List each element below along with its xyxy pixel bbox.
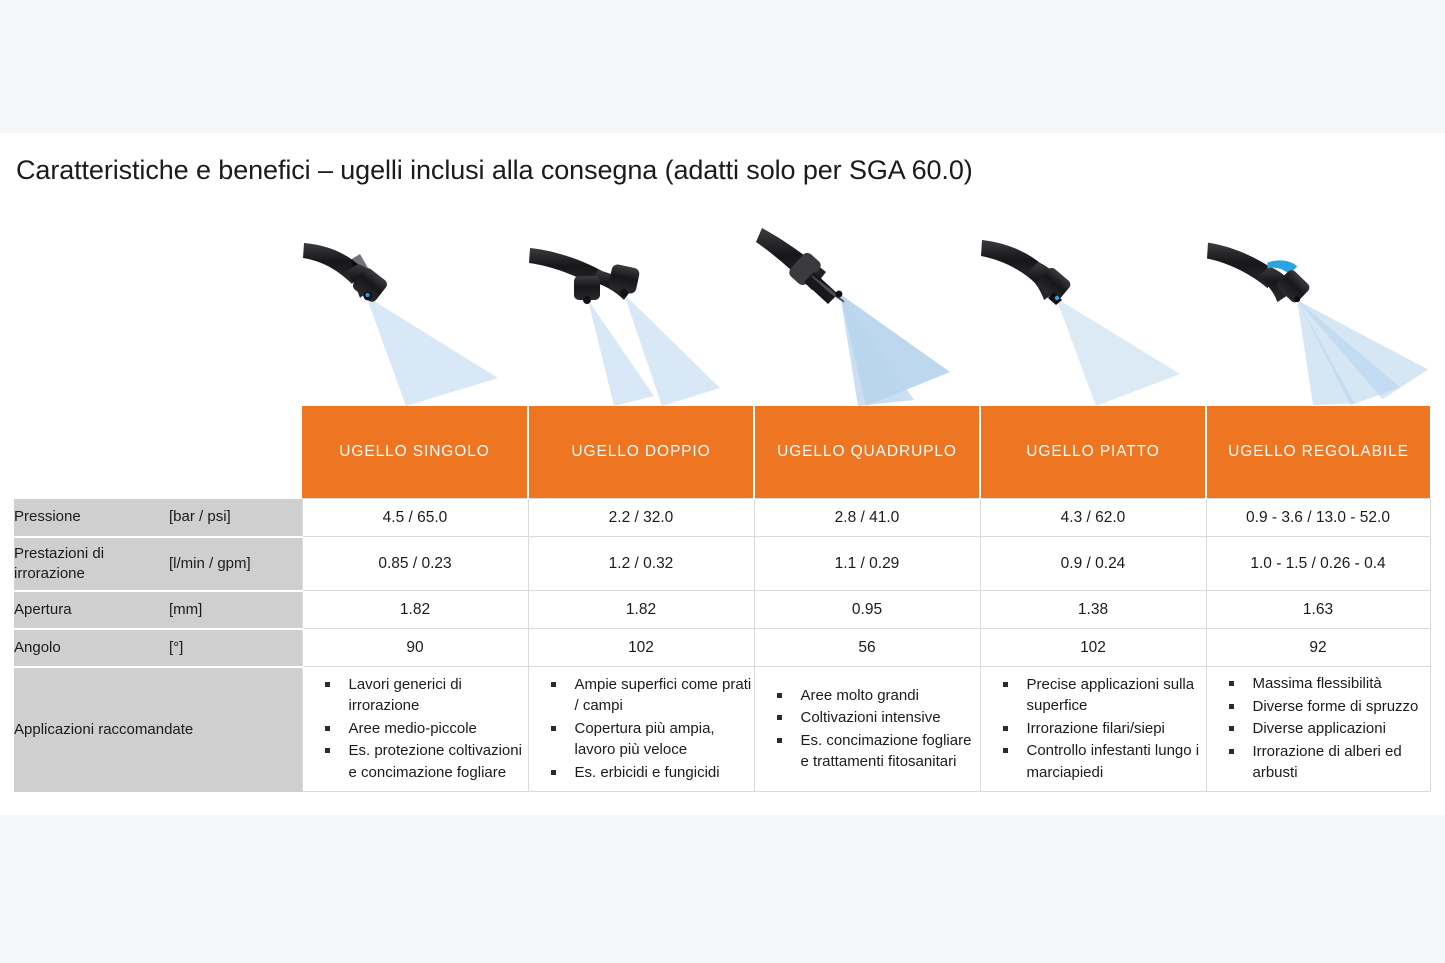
table-cell: 1.2 / 0.32	[528, 537, 754, 591]
table-cell: 102	[980, 629, 1206, 667]
nozzle-illustration-strip	[302, 228, 1430, 406]
list-item: Massima flessibilità	[1229, 673, 1430, 694]
list-item: Coltivazioni intensive	[777, 707, 980, 728]
table-cell: 1.82	[302, 591, 528, 629]
table-cell: 0.9 / 0.24	[980, 537, 1206, 591]
table-cell: 1.0 - 1.5 / 0.26 - 0.4	[1206, 537, 1430, 591]
list-item: Aree molto grandi	[777, 685, 980, 706]
list-item: Irrorazione filari/siepi	[1003, 718, 1206, 739]
applications-cell: Massima flessibilitàDiverse forme di spr…	[1206, 667, 1430, 792]
table-cell: 2.8 / 41.0	[754, 499, 980, 537]
row-unit: [bar / psi]	[169, 499, 302, 537]
list-item: Es. erbicidi e fungicidi	[551, 762, 754, 783]
list-item: Irrorazione di alberi ed arbusti	[1229, 741, 1430, 784]
column-header-flat: UGELLO PIATTO	[980, 406, 1206, 499]
applications-list: Massima flessibilitàDiverse forme di spr…	[1207, 673, 1430, 783]
row-label: Angolo	[14, 629, 169, 667]
applications-row-label: Applicazioni raccomandate	[14, 667, 302, 792]
table-cell: 1.1 / 0.29	[754, 537, 980, 591]
column-header-double: UGELLO DOPPIO	[528, 406, 754, 499]
list-item: Ampie superfici come prati / campi	[551, 674, 754, 717]
list-item: Aree medio-piccole	[325, 718, 528, 739]
quadruple-nozzle-illustration	[754, 228, 980, 406]
applications-list: Lavori generici di irrorazioneAree medio…	[303, 674, 528, 783]
row-label: Apertura	[14, 591, 169, 629]
adjustable-nozzle-illustration	[1206, 228, 1430, 406]
flat-nozzle-illustration	[980, 228, 1206, 406]
table-row: Angolo[°]901025610292	[14, 629, 1430, 667]
table-cell: 0.95	[754, 591, 980, 629]
list-item: Lavori generici di irrorazione	[325, 674, 528, 717]
table-cell: 2.2 / 32.0	[528, 499, 754, 537]
list-item: Diverse forme di spruzzo	[1229, 696, 1430, 717]
applications-cell: Lavori generici di irrorazioneAree medio…	[302, 667, 528, 792]
list-item: Es. protezione coltivazioni e concimazio…	[325, 740, 528, 783]
table-cell: 90	[302, 629, 528, 667]
table-header-row: UGELLO SINGOLO UGELLO DOPPIO UGELLO QUAD…	[14, 406, 1430, 499]
table-cell: 1.38	[980, 591, 1206, 629]
table-row: Pressione[bar / psi]4.5 / 65.02.2 / 32.0…	[14, 499, 1430, 537]
column-header-adjustable: UGELLO REGOLABILE	[1206, 406, 1430, 499]
column-header-single: UGELLO SINGOLO	[302, 406, 528, 499]
applications-cell: Ampie superfici come prati / campiCopert…	[528, 667, 754, 792]
row-unit: [mm]	[169, 591, 302, 629]
table-cell: 0.85 / 0.23	[302, 537, 528, 591]
single-nozzle-illustration	[302, 228, 528, 406]
row-unit: [°]	[169, 629, 302, 667]
applications-list: Precise applicazioni sulla superficeIrro…	[981, 674, 1206, 783]
table-cell: 4.3 / 62.0	[980, 499, 1206, 537]
table-cell: 56	[754, 629, 980, 667]
list-item: Precise applicazioni sulla superfice	[1003, 674, 1206, 717]
list-item: Es. concimazione fogliare e trattamenti …	[777, 730, 980, 773]
list-item: Controllo infestanti lungo i marciapiedi	[1003, 740, 1206, 783]
table-cell: 4.5 / 65.0	[302, 499, 528, 537]
table-cell: 102	[528, 629, 754, 667]
nozzle-spec-table: UGELLO SINGOLO UGELLO DOPPIO UGELLO QUAD…	[14, 406, 1431, 792]
header-corner-blank	[14, 406, 302, 499]
applications-list: Aree molto grandiColtivazioni intensiveE…	[755, 685, 980, 773]
table-cell: 92	[1206, 629, 1430, 667]
list-item: Copertura più ampia, lavoro più veloce	[551, 718, 754, 761]
list-item: Diverse applicazioni	[1229, 718, 1430, 739]
column-header-quadruple: UGELLO QUADRUPLO	[754, 406, 980, 499]
applications-cell: Precise applicazioni sulla superficeIrro…	[980, 667, 1206, 792]
page-title: Caratteristiche e benefici – ugelli incl…	[16, 155, 973, 186]
applications-cell: Aree molto grandiColtivazioni intensiveE…	[754, 667, 980, 792]
applications-row: Applicazioni raccomandateLavori generici…	[14, 667, 1430, 792]
slide-card: Caratteristiche e benefici – ugelli incl…	[0, 133, 1445, 815]
applications-list: Ampie superfici come prati / campiCopert…	[529, 674, 754, 783]
row-label: Pressione	[14, 499, 169, 537]
row-label: Prestazioni di irrorazione	[14, 537, 169, 591]
double-nozzle-illustration	[528, 228, 754, 406]
table-cell: 1.63	[1206, 591, 1430, 629]
table-cell: 1.82	[528, 591, 754, 629]
row-unit: [l/min / gpm]	[169, 537, 302, 591]
table-cell: 0.9 - 3.6 / 13.0 - 52.0	[1206, 499, 1430, 537]
table-row: Apertura[mm]1.821.820.951.381.63	[14, 591, 1430, 629]
table-row: Prestazioni di irrorazione[l/min / gpm]0…	[14, 537, 1430, 591]
